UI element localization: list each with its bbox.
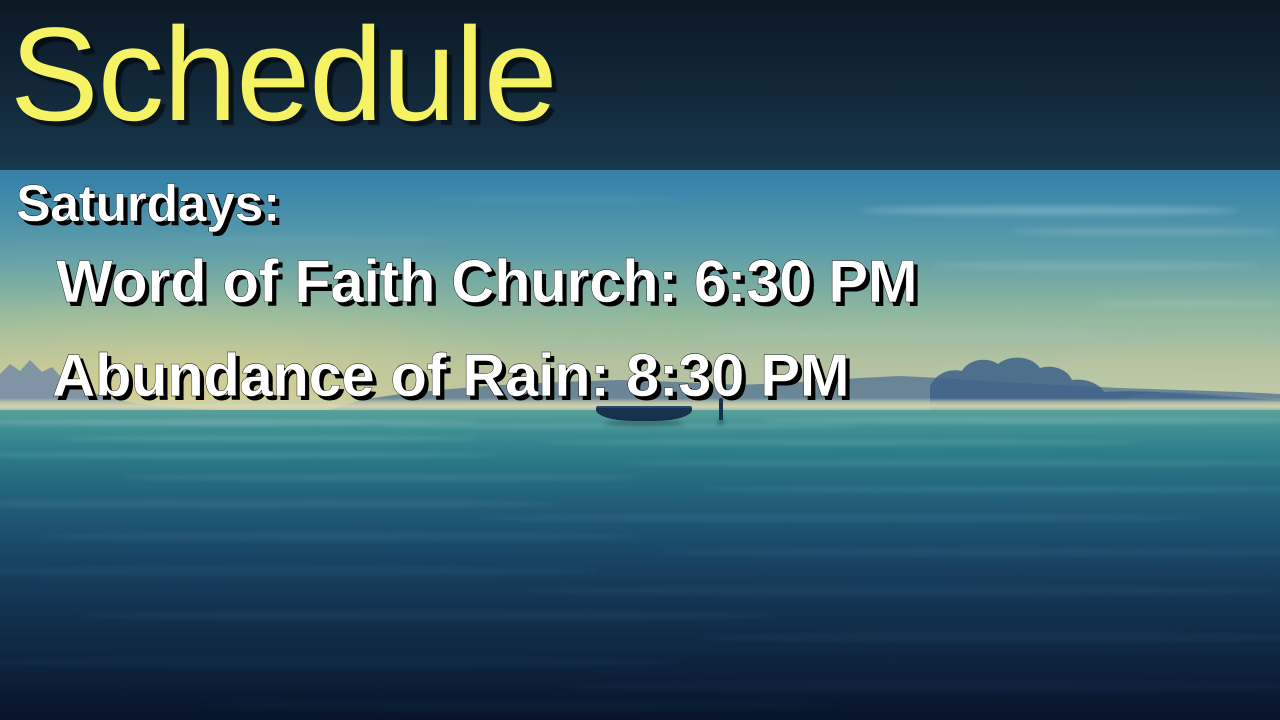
water-ripple — [40, 532, 640, 541]
schedule-entry-line: Word of Faith Church: 6:30 PM — [0, 234, 1280, 330]
water-ripple — [120, 474, 640, 481]
presentation-slide: Schedule Saturdays: Word of Faith Church… — [0, 0, 1280, 720]
water-ripple — [200, 700, 840, 712]
water-ripple — [620, 460, 1280, 466]
page-title: Schedule — [10, 8, 557, 144]
title-banner: Schedule — [0, 0, 1280, 170]
schedule-day-heading: Saturdays: — [0, 174, 1280, 234]
water-ripple — [480, 514, 1200, 522]
water-ripple — [520, 586, 1280, 596]
slide-body: Saturdays: Word of Faith Church: 6:30 PM… — [0, 174, 1280, 422]
water-ripple — [80, 610, 780, 621]
water-ripple — [60, 436, 480, 441]
water-ripple — [540, 440, 1140, 445]
schedule-entry-line: Abundance of Rain: 8:30 PM — [0, 330, 1280, 422]
water-ripple — [560, 680, 1280, 692]
